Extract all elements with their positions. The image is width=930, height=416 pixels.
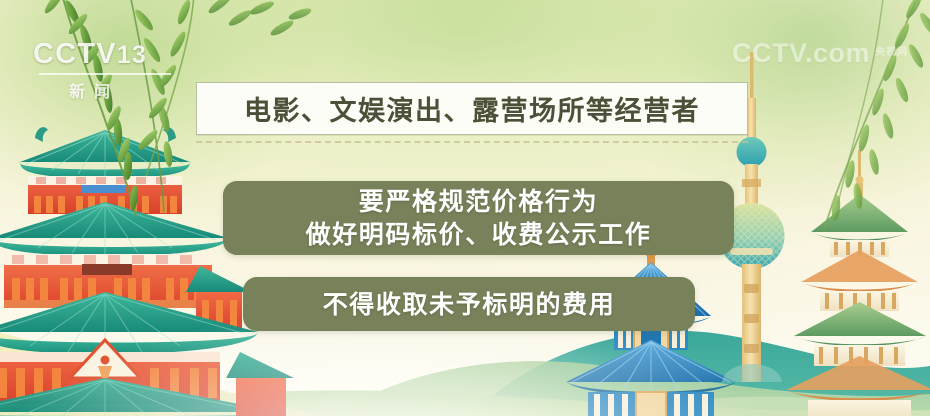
bottom-glow (0, 246, 930, 416)
watermark-wordmark: CCTV.com (732, 38, 870, 69)
headline-dashed-rule (196, 141, 748, 143)
cctv-wordmark: CCTV (33, 38, 117, 70)
statement-card-2-text: 不得收取未予标明的费用 (323, 288, 616, 321)
watermark-chinese-label: 央视网 (875, 48, 908, 59)
news-graphic-frame: CCTV13 新闻 CCTV.com 央视网 电影、文娱演出、露营场所等经营者 … (0, 0, 930, 416)
headline-box: 电影、文娱演出、露营场所等经营者 (196, 82, 748, 135)
statement-card-1-text: 要严格规范价格行为 做好明码标价、收费公示工作 (306, 185, 652, 251)
cctv-logo-rule (39, 73, 171, 75)
cctv-channel-number: 13 (117, 41, 147, 69)
cctv-channel-logo: CCTV13 新闻 (33, 40, 193, 96)
headline-text: 电影、文娱演出、露营场所等经营者 (244, 89, 700, 128)
cctv-dot-com-watermark: CCTV.com 央视网 (732, 38, 908, 69)
statement-card-1: 要严格规范价格行为 做好明码标价、收费公示工作 (223, 181, 734, 255)
cctv-logo-text: CCTV13 (33, 40, 193, 69)
cctv-logo-subtitle: 新闻 (69, 78, 193, 102)
statement-card-2: 不得收取未予标明的费用 (243, 277, 695, 331)
